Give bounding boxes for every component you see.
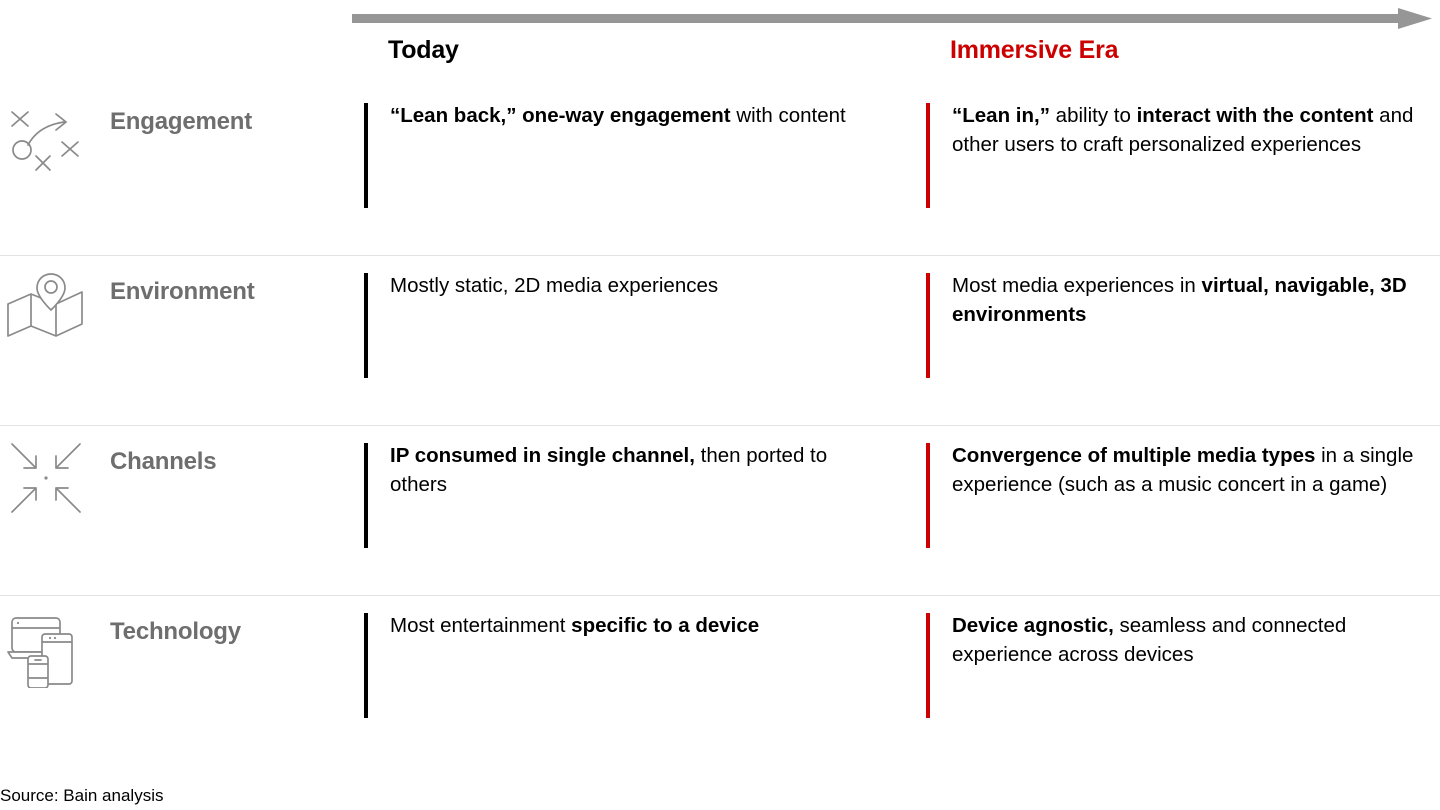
immersive-accent-bar bbox=[926, 613, 930, 718]
comparison-row: Engagement “Lean back,” one-way engageme… bbox=[0, 86, 1440, 256]
timeline-arrow bbox=[352, 8, 1432, 30]
map-pin-icon bbox=[6, 268, 86, 348]
cell-immersive-era: Convergence of multiple media types in a… bbox=[926, 442, 1440, 499]
today-text: Mostly static, 2D media experiences bbox=[390, 272, 718, 301]
comparison-row: Environment Mostly static, 2D media expe… bbox=[0, 256, 1440, 426]
today-accent-bar bbox=[364, 273, 368, 378]
column-headers: Today Immersive Era bbox=[0, 36, 1440, 76]
today-text: Most entertainment specific to a device bbox=[390, 612, 759, 641]
cell-today: Most entertainment specific to a device bbox=[364, 612, 759, 641]
immersive-text: Most media experiences in virtual, navig… bbox=[952, 272, 1440, 329]
immersive-text: Device agnostic, seamless and connected … bbox=[952, 612, 1440, 669]
cell-immersive-era: Most media experiences in virtual, navig… bbox=[926, 272, 1440, 329]
cell-today: “Lean back,” one-way engagement with con… bbox=[364, 102, 846, 131]
today-accent-bar bbox=[364, 103, 368, 208]
today-accent-bar bbox=[364, 613, 368, 718]
row-label-channels: Channels bbox=[110, 448, 216, 476]
comparison-row: Channels IP consumed in single channel, … bbox=[0, 426, 1440, 596]
column-header-immersive-era: Immersive Era bbox=[950, 36, 1118, 65]
converging-arrows-icon bbox=[6, 438, 86, 518]
cell-immersive-era: “Lean in,” ability to interact with the … bbox=[926, 102, 1440, 159]
comparison-row: Technology Most entertainment specific t… bbox=[0, 596, 1440, 766]
comparison-rows: Engagement “Lean back,” one-way engageme… bbox=[0, 86, 1440, 766]
strategy-playbook-icon bbox=[6, 98, 86, 178]
column-header-today: Today bbox=[388, 36, 459, 65]
today-text: IP consumed in single channel, then port… bbox=[390, 442, 880, 499]
immersive-text: Convergence of multiple media types in a… bbox=[952, 442, 1440, 499]
source-note: Source: Bain analysis bbox=[0, 786, 163, 806]
immersive-accent-bar bbox=[926, 103, 930, 208]
cell-immersive-era: Device agnostic, seamless and connected … bbox=[926, 612, 1440, 669]
immersive-accent-bar bbox=[926, 443, 930, 548]
cell-today: Mostly static, 2D media experiences bbox=[364, 272, 718, 301]
row-label-technology: Technology bbox=[110, 618, 241, 646]
today-accent-bar bbox=[364, 443, 368, 548]
cell-today: IP consumed in single channel, then port… bbox=[364, 442, 880, 499]
multi-device-icon bbox=[6, 608, 86, 688]
row-label-engagement: Engagement bbox=[110, 108, 252, 136]
immersive-accent-bar bbox=[926, 273, 930, 378]
row-label-environment: Environment bbox=[110, 278, 254, 306]
today-text: “Lean back,” one-way engagement with con… bbox=[390, 102, 846, 131]
right-arrow-icon bbox=[352, 8, 1432, 30]
immersive-text: “Lean in,” ability to interact with the … bbox=[952, 102, 1440, 159]
